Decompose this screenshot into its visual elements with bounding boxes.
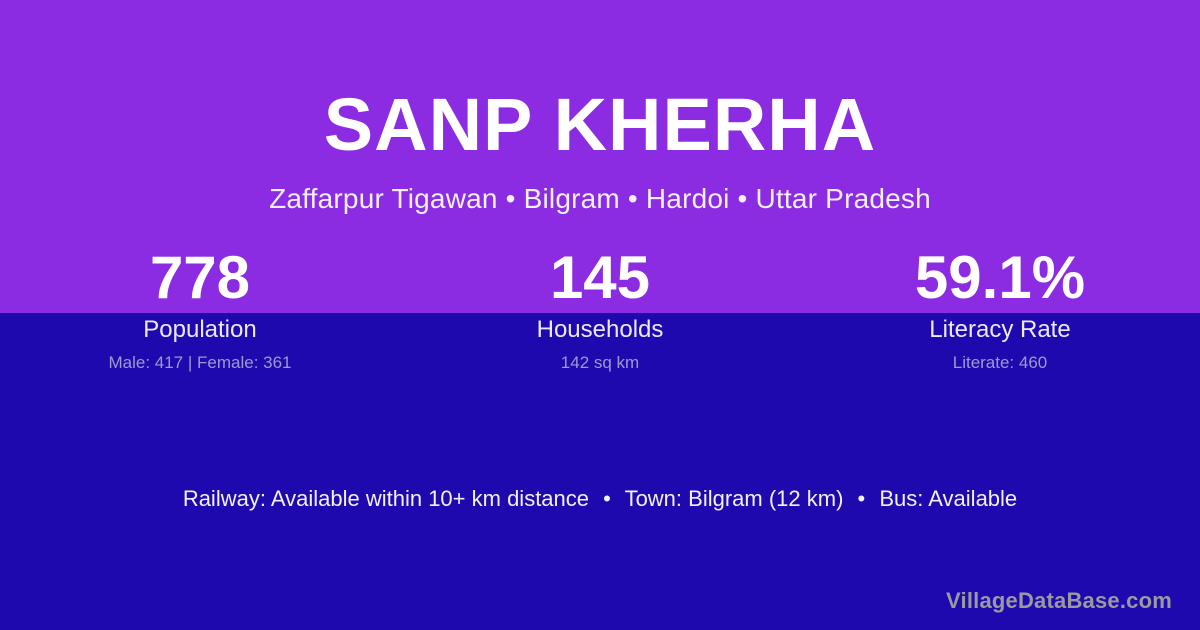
stat-label: Households bbox=[400, 316, 800, 345]
stat-sub-detail: 142 sq km bbox=[400, 353, 800, 373]
stat-sub-detail: Literate: 460 bbox=[800, 353, 1200, 373]
bus-info: Bus: Available bbox=[879, 486, 1017, 511]
stat-households: 145 Households 142 sq km bbox=[400, 248, 800, 373]
town-info: Town: Bilgram (12 km) bbox=[625, 486, 844, 511]
location-breadcrumb: Zaffarpur Tigawan • Bilgram • Hardoi • U… bbox=[0, 182, 1200, 216]
card-content: SANP KHERHA Zaffarpur Tigawan • Bilgram … bbox=[0, 0, 1200, 630]
stat-label: Population bbox=[0, 316, 400, 345]
stat-label: Literacy Rate bbox=[800, 316, 1200, 345]
site-brand-watermark: VillageDataBase.com bbox=[946, 588, 1172, 614]
info-separator: • bbox=[850, 485, 874, 514]
stat-population: 778 Population Male: 417 | Female: 361 bbox=[0, 248, 400, 373]
page-title: SANP KHERHA bbox=[0, 88, 1200, 162]
stat-value: 59.1% bbox=[800, 248, 1200, 310]
amenities-info-line: Railway: Available within 10+ km distanc… bbox=[0, 485, 1200, 514]
railway-info: Railway: Available within 10+ km distanc… bbox=[183, 486, 589, 511]
stat-literacy-rate: 59.1% Literacy Rate Literate: 460 bbox=[800, 248, 1200, 373]
stat-value: 145 bbox=[400, 248, 800, 310]
stat-value: 778 bbox=[0, 248, 400, 310]
info-separator: • bbox=[595, 485, 619, 514]
stats-row: 778 Population Male: 417 | Female: 361 1… bbox=[0, 248, 1200, 373]
stat-sub-detail: Male: 417 | Female: 361 bbox=[0, 353, 400, 373]
village-info-card: SANP KHERHA Zaffarpur Tigawan • Bilgram … bbox=[0, 0, 1200, 630]
